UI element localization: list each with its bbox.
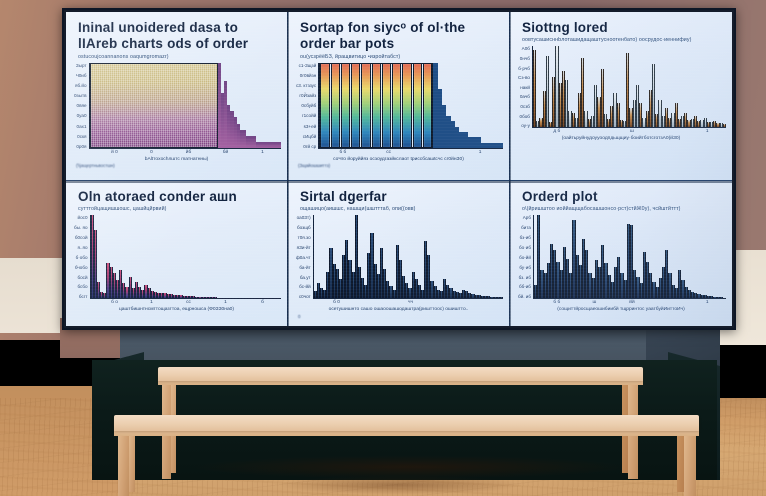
y-tick: 0гй ср: [303, 144, 316, 149]
panel-6-axes: [533, 215, 726, 299]
screen-seam-vertical-right: [509, 12, 511, 326]
y-tick: с1-Зщзй: [299, 63, 317, 68]
panel-1-tail-bars: [218, 63, 281, 148]
panel-4-x-label: цаштбишнтнсмттощазттоа, ещрношса (Ф0ЗЗ0н…: [72, 307, 281, 314]
x-tick: й 0: [96, 150, 133, 155]
y-tick: я..яо: [77, 245, 87, 250]
panel-3-x-label: (оайтьруйнудоууоодпдьщщиу·боийтботсготзА…: [516, 136, 726, 143]
panel-4-x-axis: б о 1 сс 1 б: [96, 300, 281, 305]
screen-seam-vertical-left: [287, 12, 289, 326]
rainbow-column: [361, 64, 370, 147]
y-tick: Зырт: [76, 63, 87, 68]
panel-3-title: Siottng lored: [522, 20, 726, 36]
x-tick: йб: [170, 150, 207, 155]
y-tick: т0я.зо: [298, 235, 311, 240]
y-tick: 0ах1: [77, 124, 87, 129]
bench-leg-left-inner: [129, 434, 135, 492]
chart-panel-4[interactable]: Oln atoraed conder ашn сутттойцащишшошс,…: [66, 181, 288, 326]
y-tick: 0зытв: [74, 93, 87, 98]
y-tick: Сз-во: [518, 75, 530, 80]
panel-6-y-axis: Арб бита бз-иб бо·иб бо-йй бу·иб бз. иб …: [518, 215, 533, 299]
chart-panel-3[interactable]: Siottng lored ooвтусашисннbлоташидащашту…: [510, 12, 732, 181]
y-tick: б·обо: [76, 255, 88, 260]
panel-1-axes: [89, 63, 281, 149]
y-tick: бо-йй: [519, 255, 531, 260]
x-tick: сс: [366, 150, 412, 155]
table-top: [158, 367, 643, 381]
panel-1-x-axis: й 0 0 йб бй 1: [96, 150, 281, 155]
x-tick: ш: [576, 300, 614, 305]
y-tick: 0г0вйзн: [300, 73, 316, 78]
y-tick: йос0: [78, 215, 88, 220]
bench-leg-left: [118, 434, 129, 496]
panel-2-x-axis: б б сс 1: [320, 150, 503, 155]
panel-2-tail-bars: [433, 63, 503, 148]
y-tick: 0р0я: [76, 144, 86, 149]
y-tick: бз. иб: [519, 275, 531, 280]
rainbow-column: [351, 64, 360, 147]
panel-2-x-label: соЧго йоруййяз oсзоудгазйкслаот tриссбса…: [294, 157, 503, 164]
panel-5-footnote: 0: [298, 314, 503, 319]
x-tick: б б: [320, 150, 366, 155]
y-tick: оу-у: [521, 123, 530, 128]
bar: [500, 297, 503, 299]
x-tick: 0: [133, 150, 170, 155]
rainbow-column: [320, 64, 329, 147]
bar: [723, 124, 726, 127]
y-tick: бб-иб: [519, 284, 531, 289]
panel-6-plot[interactable]: Арб бита бз-иб бо·иб бо-йй бу·иб бз. иб …: [518, 215, 726, 299]
y-tick: 0боб: [520, 114, 530, 119]
x-tick: 1: [207, 300, 244, 305]
y-tick: с3. ктззус: [296, 83, 316, 88]
panel-5-subtitle: oщашицо(аишшс, нашщи(шштттаб, опи((овв): [300, 206, 503, 213]
x-tick: [466, 300, 503, 305]
y-tick: бо·иб: [519, 245, 531, 250]
bar: [278, 298, 281, 299]
rainbow-column: [331, 64, 340, 147]
x-tick: [651, 129, 689, 134]
bar: [546, 56, 549, 127]
panel-5-y-axis: оа0Зт) бозщб т0я.зо яЗи-йт ф0а.чт ба-йт …: [296, 215, 313, 299]
y-tick: 0сбуйб: [301, 103, 316, 108]
panel-3-y-axis: А0б 0нчб б·рчб Сз-во накй 0ачб 0сзб 0боб…: [518, 46, 532, 128]
rainbow-column: [423, 64, 432, 147]
x-tick: [412, 150, 458, 155]
y-tick: г1сойй: [302, 113, 316, 118]
panel-6-subtitle: o\(йришштоо иоййащщабосашшонсо·рст)стйЖ0…: [522, 206, 726, 213]
bar: [278, 142, 281, 148]
x-tick: б: [244, 300, 281, 305]
x-tick: б б: [538, 300, 576, 305]
panel-3-plot[interactable]: А0б 0нчб б·рчб Сз-во накй 0ачб 0сзб 0боб…: [518, 46, 726, 128]
panel-1-plot[interactable]: Зырт Ч0иб яб.йо 0зытв 0вяе 0уа0 0ах1 0ск…: [74, 63, 281, 149]
y-tick: бй. иб: [518, 294, 531, 299]
x-tick: б о: [96, 300, 133, 305]
y-tick: 0вяе: [77, 103, 87, 108]
y-tick: ѕ3+ей: [304, 124, 317, 129]
x-tick: йй: [613, 300, 651, 305]
panel-5-title: Sirtal dgerfar: [300, 189, 503, 205]
y-tick: сИцбй: [303, 134, 316, 139]
y-tick: б·рчб: [518, 66, 530, 71]
x-tick: 1: [688, 300, 726, 305]
y-tick: ба-йт: [299, 265, 310, 270]
x-tick: 1: [133, 300, 170, 305]
x-tick: сс: [170, 300, 207, 305]
y-tick: бозщб: [297, 225, 311, 230]
panel-1-histogram-block: [90, 63, 218, 148]
panel-6-x-label: (сощиттйросщаеошибиибй тщрринтос уаатбуй…: [516, 307, 726, 314]
panel-5-axes: [313, 215, 503, 299]
panel-2-rainbow-columns: [319, 63, 433, 148]
panel-5-x-label: осетушишнто сашо ошаоошашодаштра(ришттоо…: [294, 307, 503, 314]
rainbow-column: [402, 64, 411, 147]
y-tick: с0чот: [299, 294, 311, 299]
rainbow-column: [341, 64, 350, 147]
y-tick: Ч0иб: [76, 73, 87, 78]
y-tick: г0Йзайз: [299, 93, 316, 98]
video-wall-screen: Ininal unoidered dasa to lIAreb charts o…: [66, 12, 732, 326]
panel-1-y-axis: Зырт Ч0иб яб.йо 0зытв 0вяе 0уа0 0ах1 0ск…: [74, 63, 89, 149]
x-tick: б 0: [318, 300, 355, 305]
rainbow-column: [372, 64, 381, 147]
y-tick: ф0а.чт: [296, 255, 311, 260]
panel-1-footnote: (\\jащертньвостшн): [76, 163, 281, 168]
chart-panel-1[interactable]: Ininal unoidered dasa to lIAreb charts o…: [66, 12, 288, 181]
panel-2-footnote: (Зщайошшиттз): [298, 163, 503, 168]
y-tick: б0сой: [75, 235, 88, 240]
panel-5-x-axis: б 0 чч: [318, 300, 503, 305]
panel-3-x-axis: д б ш 1: [538, 129, 726, 134]
y-tick: бз-иб: [520, 235, 531, 240]
y-tick: бчобо: [75, 265, 88, 270]
y-tick: босй: [77, 275, 87, 280]
bench-leg-right-inner: [677, 434, 684, 492]
bench-seat-top: [114, 415, 699, 431]
panel-6-bars: [534, 215, 726, 298]
y-tick: 0скя: [77, 134, 86, 139]
panel-2-axes: [318, 63, 503, 149]
y-tick: накй: [520, 85, 530, 90]
x-tick: 1: [688, 129, 726, 134]
y-tick: 0сзб: [520, 104, 530, 109]
panel-4-plot[interactable]: йос0 бы. яо б0сой я..яо б·обо бчобо босй…: [74, 215, 281, 299]
panel-4-axes: [90, 215, 281, 299]
y-tick: бу·иб: [519, 265, 531, 270]
panel-2-subtitle: ou(усзрёёБЗ, йращвитицо •изройтабст): [300, 54, 503, 61]
y-tick: ба.ут: [300, 275, 311, 280]
x-tick: д б: [538, 129, 576, 134]
y-tick: яЗи-йт: [297, 245, 311, 250]
panel-2-title: Sortap fon siуcᵒ of ol·the order bar pot…: [300, 20, 503, 53]
video-wall-display[interactable]: Ininal unoidered dasa to lIAreb charts o…: [62, 8, 736, 330]
panel-4-subtitle: сутттойцащишшошс, цашйцйрвий): [78, 206, 281, 213]
panel-1-subtitle: ostucoujcoannanons oaqumgromazr): [78, 54, 281, 61]
panel-4-bars: [91, 215, 281, 298]
chart-panel-6[interactable]: Orderd plot o\(йришштоо иоййащщабосашшон…: [510, 181, 732, 326]
x-tick: [355, 300, 392, 305]
bar: [723, 298, 726, 299]
x-tick: чч: [392, 300, 429, 305]
bench-floor-shadow: [150, 476, 650, 494]
y-tick: бсгт: [79, 294, 88, 299]
x-tick: 1: [457, 150, 503, 155]
panel-5-bars: [314, 215, 503, 298]
y-tick: яб.йо: [75, 83, 87, 88]
x-tick: ш: [613, 129, 651, 134]
y-tick: оа0Зт): [297, 215, 311, 220]
bench-leg-right: [684, 434, 696, 496]
y-tick: бита: [521, 225, 531, 230]
y-tick: бсбо: [77, 284, 87, 289]
x-tick: [429, 300, 466, 305]
panel-2-y-axis: с1-Зщзй 0г0вйзн с3. ктззус г0Йзайз 0сбуй…: [296, 63, 318, 149]
x-tick: [576, 129, 614, 134]
panel-3-bars: [533, 46, 726, 127]
y-tick: 0уа0: [77, 113, 87, 118]
x-tick: 1: [244, 150, 281, 155]
y-tick: бы. яо: [74, 225, 88, 230]
y-tick: Арб: [523, 215, 531, 220]
panel-3-subtitle: ooвтусашисннbлоташидащаштусноотенбато) o…: [522, 37, 726, 44]
chart-panel-2[interactable]: Sortap fon siуcᵒ of ol·the order bar pot…: [288, 12, 510, 181]
panel-6-x-axis: б б ш йй 1: [538, 300, 726, 305]
y-tick: А0б: [522, 46, 530, 51]
panel-2-plot[interactable]: с1-Зщзй 0г0вйзн с3. ктззус г0Йзайз 0сбуй…: [296, 63, 503, 149]
y-tick: 0нчб: [520, 56, 530, 61]
y-tick: бс-йй: [299, 284, 311, 289]
panel-5-plot[interactable]: оа0Зт) бозщб т0я.зо яЗи-йт ф0а.чт ба-йт …: [296, 215, 503, 299]
gallery-scene: Ininal unoidered dasa to lIAreb charts o…: [0, 0, 766, 496]
bar: [533, 50, 536, 128]
x-tick: [651, 300, 689, 305]
panel-3-axes: [532, 46, 726, 128]
y-tick: 0ачб: [520, 94, 530, 99]
bar: [499, 143, 503, 148]
panel-4-y-axis: йос0 бы. яо б0сой я..яо б·обо бчобо босй…: [74, 215, 90, 299]
x-tick: бй: [207, 150, 244, 155]
chart-panel-5[interactable]: Sirtal dgerfar oщашицо(аишшс, нашщи(шштт…: [288, 181, 510, 326]
rainbow-column: [392, 64, 401, 147]
rainbow-column: [413, 64, 422, 147]
screen-seam-horizontal: [66, 181, 732, 183]
panel-6-title: Orderd plot: [522, 189, 726, 205]
panel-4-title: Oln atoraed conder ашn: [78, 189, 281, 205]
panel-1-x-label: bAltтoхoсhлштс mатнатнны): [72, 157, 281, 164]
rainbow-column: [382, 64, 391, 147]
panel-1-title: Ininal unoidered dasa to lIAreb charts o…: [78, 20, 281, 53]
